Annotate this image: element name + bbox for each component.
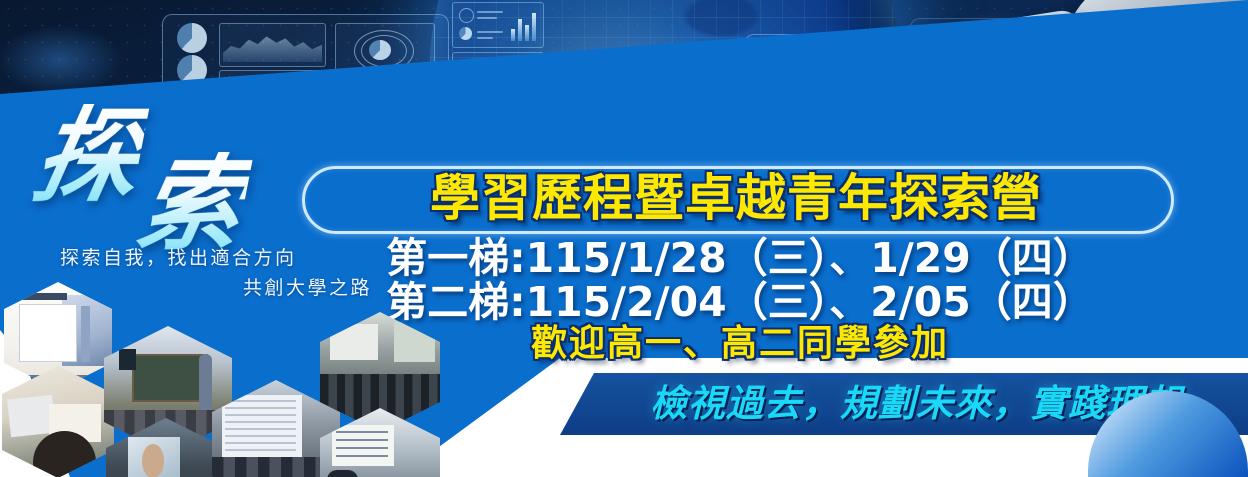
pie-chart-icon (459, 27, 472, 40)
pie-chart-icon (177, 23, 207, 53)
tagline-line-1: 探索自我，找出適合方向 (60, 243, 297, 270)
bar-chart-icon (518, 19, 522, 41)
logo-char-explore-2: 索 (130, 152, 254, 256)
session-date-1: 第一梯:115/1/28（三）、1/29（四） (318, 236, 1162, 280)
logo-char-explore-1: 探 (26, 104, 150, 208)
photo-collage (0, 278, 500, 477)
bar-chart-icon (532, 13, 536, 41)
area-chart-icon (223, 30, 322, 62)
pie-chart-icon (369, 40, 391, 60)
event-poster: 0 1 0 1 1 0 1 0 0 1 0 0 1 1 0 1 0 0 1 1 … (0, 0, 1248, 477)
gauge-icon (459, 8, 474, 23)
mini-stats-panel (452, 2, 544, 48)
bar-chart-icon (525, 25, 529, 41)
page-title: 學習歷程暨卓越青年探索營 (316, 170, 1156, 226)
photo-student-notes (2, 366, 114, 477)
bar-chart-icon (511, 29, 515, 41)
area-chart-frame (219, 23, 326, 67)
